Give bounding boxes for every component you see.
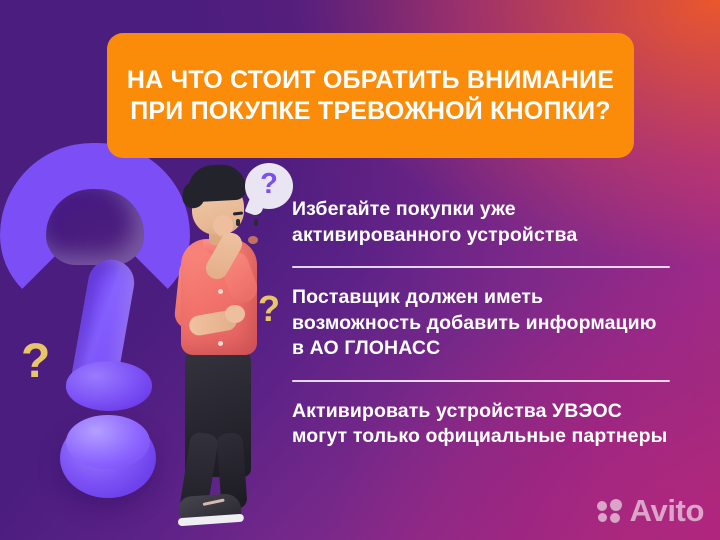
title-banner: НА ЧТО СТОИТ ОБРАТИТЬ ВНИМАНИЕ ПРИ ПОКУП…	[107, 33, 634, 158]
list-item: Активировать устройства УВЭОС могут толь…	[292, 399, 670, 450]
avito-wordmark: Avito	[630, 495, 704, 526]
list-item: Поставщик должен иметь возможность добав…	[292, 285, 670, 362]
list-divider	[292, 266, 670, 268]
question-mark-hook	[0, 143, 190, 311]
person-shirt-button	[218, 341, 223, 346]
person-hand-left	[225, 305, 245, 323]
list-item: Избегайте покупки уже активированного ус…	[292, 197, 670, 248]
list-item-text: Активировать устройства УВЭОС могут толь…	[292, 399, 670, 450]
poster-canvas: ? ? ? НА ЧТО СТОИТ ОБРАТИТ	[0, 0, 720, 540]
person-shoe	[178, 493, 242, 521]
question-mark-stem-cap	[66, 361, 152, 411]
speech-bubble-question-mark: ?	[245, 170, 293, 199]
person-eyebrow-left	[233, 211, 243, 215]
person-eye-right	[254, 219, 258, 226]
person-hand-right	[213, 215, 233, 235]
speech-bubble-icon: ?	[245, 163, 293, 209]
person-shirt-button	[218, 289, 223, 294]
person-hair	[187, 164, 247, 203]
question-mark-dot	[60, 418, 156, 498]
list-item-text: Избегайте покупки уже активированного ус…	[292, 197, 670, 248]
gold-question-mark-left-icon: ?	[21, 338, 50, 386]
thinking-person-illustration	[163, 165, 283, 520]
avito-logo-icon	[597, 499, 623, 523]
list-divider	[292, 380, 670, 382]
person-eye-left	[236, 219, 240, 226]
page-title: НА ЧТО СТОИТ ОБРАТИТЬ ВНИМАНИЕ ПРИ ПОКУП…	[107, 65, 634, 126]
person-mouth	[248, 236, 258, 244]
question-mark-stem	[68, 256, 138, 402]
person-shoe-lace	[203, 498, 225, 506]
avito-watermark: Avito	[597, 495, 704, 526]
tips-list: Избегайте покупки уже активированного ус…	[292, 197, 670, 450]
list-item-text: Поставщик должен иметь возможность добав…	[292, 285, 670, 362]
